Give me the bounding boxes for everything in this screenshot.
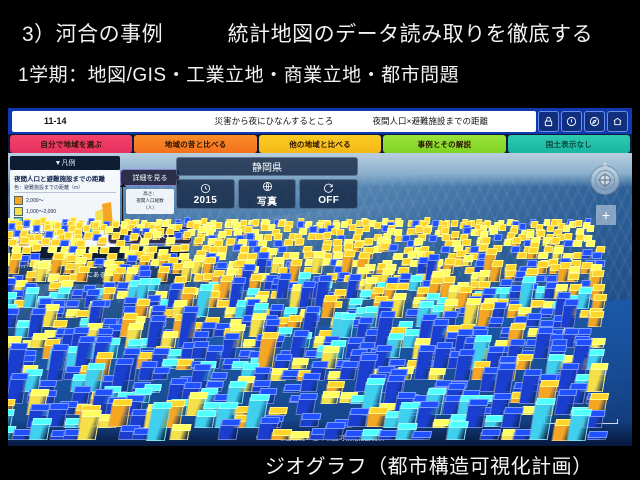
mesh-block bbox=[139, 241, 148, 246]
mesh-block-top bbox=[412, 431, 432, 438]
mesh-block-top bbox=[153, 367, 171, 374]
mesh-block-top bbox=[463, 255, 474, 262]
mesh-block-top bbox=[32, 225, 40, 232]
mesh-block-top bbox=[52, 253, 64, 260]
mesh-block-top bbox=[589, 311, 604, 318]
mesh-block-top bbox=[466, 298, 481, 305]
mesh-block bbox=[373, 225, 380, 227]
mesh-block bbox=[321, 394, 340, 404]
mesh-block bbox=[497, 227, 504, 230]
mesh-block-top bbox=[451, 220, 458, 227]
mesh-block-top bbox=[523, 276, 537, 283]
mesh-block-top bbox=[387, 375, 406, 382]
mesh-block-top bbox=[499, 356, 517, 363]
mesh-block-top bbox=[309, 226, 317, 233]
mesh-block-top bbox=[363, 225, 371, 232]
mesh-block-top bbox=[262, 332, 279, 339]
legend-subtitle: 色：避難施設までの距離（m） bbox=[14, 184, 116, 193]
mesh-block-top bbox=[180, 244, 190, 251]
mesh-block-top bbox=[433, 319, 449, 326]
mesh-block-top bbox=[218, 231, 227, 238]
mesh-block-top bbox=[148, 246, 158, 253]
legend-label: 2,000〜 bbox=[26, 197, 44, 204]
mesh-block-top bbox=[172, 424, 192, 431]
map-controls: 静岡県 2015 写真 bbox=[176, 157, 358, 209]
mesh-block-top bbox=[32, 418, 52, 425]
mesh-block-top bbox=[380, 311, 396, 318]
mesh-block bbox=[574, 223, 581, 227]
mesh-block-top bbox=[205, 257, 217, 264]
mesh-block-top bbox=[194, 364, 212, 371]
mesh-block-top bbox=[577, 328, 592, 335]
mesh-block-top bbox=[459, 286, 473, 293]
mesh-block-top bbox=[415, 338, 431, 345]
mesh-block-top bbox=[359, 317, 374, 324]
mesh-block-top bbox=[324, 295, 338, 302]
mesh-block-top bbox=[184, 382, 203, 389]
compass-icon bbox=[589, 116, 600, 127]
mesh-block-top bbox=[357, 267, 369, 274]
app-toolbar: 11-14 災害から夜にひなんするところ 夜間人口×避難施設までの距離 bbox=[8, 108, 632, 134]
mesh-block-top bbox=[525, 268, 538, 275]
mesh-block-top bbox=[538, 252, 548, 259]
mesh-block bbox=[461, 258, 472, 266]
mesh-block-top bbox=[419, 301, 434, 308]
mesh-block-top bbox=[174, 276, 187, 283]
map-viewport[interactable]: ▼凡例 夜間人口と避難施設までの距離 色：避難施設までの距離（m） 2,000〜… bbox=[8, 153, 632, 446]
basemap-value: 写真 bbox=[257, 193, 278, 208]
mesh-block bbox=[28, 421, 50, 440]
mesh-block bbox=[488, 320, 503, 328]
mesh-block-top bbox=[551, 237, 560, 244]
mesh-block-top bbox=[82, 410, 102, 417]
mesh-block-top bbox=[98, 328, 114, 335]
animation-value: OFF bbox=[318, 195, 339, 206]
mesh-block bbox=[193, 240, 202, 246]
mesh-block-top bbox=[8, 308, 20, 315]
mesh-block-top bbox=[568, 273, 580, 280]
legend-title: 夜間人口と避難施設までの距離 bbox=[14, 173, 116, 183]
mesh-block-top bbox=[305, 306, 320, 313]
mesh-block-top bbox=[49, 403, 69, 410]
mesh-block bbox=[562, 228, 569, 231]
mesh-block bbox=[493, 237, 501, 240]
zoom-in-button[interactable]: + bbox=[596, 205, 616, 225]
mesh-block-top bbox=[564, 328, 580, 335]
mesh-block-top bbox=[260, 417, 280, 424]
mesh-block-top bbox=[436, 342, 453, 349]
mesh-block-top bbox=[385, 283, 398, 290]
mesh-block-top bbox=[10, 253, 22, 260]
prefecture-selector[interactable]: 静岡県 bbox=[176, 157, 358, 176]
mesh-block-top bbox=[489, 317, 504, 324]
mesh-block-top bbox=[499, 363, 518, 370]
mesh-block-top bbox=[194, 331, 210, 338]
mesh-block-top bbox=[91, 300, 106, 307]
mesh-block-top bbox=[278, 327, 293, 334]
compass-north-label: 北 bbox=[603, 162, 608, 169]
mesh-block-top bbox=[87, 363, 105, 370]
mesh-block-top bbox=[318, 275, 332, 282]
mesh-block bbox=[179, 247, 189, 252]
mesh-block bbox=[280, 373, 298, 380]
tab-no-display[interactable]: 国土表示なし bbox=[508, 135, 630, 153]
mesh-block-top bbox=[429, 368, 447, 375]
mesh-block-top bbox=[254, 367, 272, 374]
mesh-block-top bbox=[327, 381, 345, 388]
mesh-block-top bbox=[397, 392, 416, 399]
mesh-block-top bbox=[30, 389, 49, 396]
mesh-block-top bbox=[32, 244, 42, 251]
mesh-block-top bbox=[219, 402, 239, 409]
mesh-block bbox=[450, 223, 457, 227]
mesh-block-top bbox=[211, 372, 229, 379]
mesh-block-top bbox=[423, 227, 431, 234]
mesh-block bbox=[298, 284, 314, 308]
mesh-block-top bbox=[491, 260, 503, 267]
mesh-block bbox=[209, 375, 226, 381]
mesh-block-top bbox=[564, 299, 579, 306]
info-icon bbox=[566, 116, 577, 127]
mesh-block-top bbox=[323, 346, 340, 353]
mesh-block bbox=[81, 228, 88, 231]
mesh-block-top bbox=[207, 345, 224, 352]
mesh-block bbox=[299, 416, 319, 427]
mesh-block bbox=[299, 376, 319, 392]
mesh-block-top bbox=[183, 287, 197, 294]
mesh-block-top bbox=[558, 389, 577, 396]
mesh-block-top bbox=[233, 277, 247, 284]
mesh-block bbox=[194, 413, 215, 428]
mesh-block-top bbox=[481, 429, 501, 436]
mesh-block bbox=[169, 427, 190, 440]
mesh-block-top bbox=[30, 404, 50, 411]
mesh-block-top bbox=[8, 278, 17, 285]
mesh-block-top bbox=[11, 373, 30, 380]
mesh-block-top bbox=[112, 232, 121, 239]
mesh-block-top bbox=[8, 245, 9, 252]
mesh-block bbox=[388, 247, 398, 252]
mesh-block bbox=[587, 314, 603, 327]
tab-case-study[interactable]: 事例とその解説 bbox=[383, 135, 505, 153]
mesh-block-top bbox=[126, 267, 138, 274]
mesh-block-top bbox=[342, 361, 360, 368]
mesh-block bbox=[239, 249, 248, 252]
mesh-block-top bbox=[254, 303, 269, 310]
mesh-block-top bbox=[253, 380, 271, 387]
slide-subtitle: 1学期：地図/GIS・工業立地・商業立地・都市問題 bbox=[18, 60, 459, 87]
mesh-block bbox=[290, 361, 307, 369]
mesh-block-top bbox=[66, 300, 80, 307]
mesh-block bbox=[120, 224, 127, 227]
mesh-block-top bbox=[78, 266, 90, 273]
home-button[interactable] bbox=[607, 111, 628, 132]
mesh-block-top bbox=[139, 270, 152, 277]
slide: 3）河合の事例 統計地図のデータ読み取りを徹底する 1学期：地図/GIS・工業立… bbox=[0, 0, 640, 480]
mesh-block bbox=[545, 228, 552, 231]
mesh-block-top bbox=[365, 277, 378, 284]
mesh-block-top bbox=[87, 289, 101, 296]
mesh-block-top bbox=[575, 339, 593, 346]
mesh-block-top bbox=[152, 231, 161, 238]
mesh-block-top bbox=[509, 339, 525, 346]
tab-compare-other[interactable]: 他の地域と比べる bbox=[259, 135, 381, 153]
mesh-block bbox=[516, 255, 526, 259]
mesh-block bbox=[217, 249, 226, 252]
mesh-block-top bbox=[302, 413, 322, 420]
mesh-block-top bbox=[593, 294, 607, 301]
mesh-block bbox=[591, 297, 605, 309]
mesh-block-top bbox=[153, 402, 173, 409]
mesh-block-top bbox=[458, 349, 476, 356]
mesh-block bbox=[50, 256, 63, 274]
mesh-block-top bbox=[590, 363, 608, 370]
mesh-block bbox=[283, 228, 290, 231]
mesh-block bbox=[276, 276, 291, 299]
mesh-block bbox=[585, 243, 594, 246]
mesh-block-top bbox=[488, 346, 505, 353]
mesh-block bbox=[322, 425, 344, 440]
mesh-block-top bbox=[372, 287, 385, 294]
mesh-block-top bbox=[392, 253, 402, 260]
mesh-block bbox=[217, 422, 239, 440]
mesh-block bbox=[410, 434, 430, 440]
mesh-block-top bbox=[158, 266, 170, 273]
year-control[interactable]: 2015 bbox=[176, 179, 235, 209]
mesh-block-top bbox=[559, 262, 571, 269]
mesh-block-top bbox=[482, 288, 496, 295]
mesh-block bbox=[586, 434, 606, 440]
mesh-block bbox=[479, 432, 499, 440]
mesh-block-top bbox=[8, 399, 15, 406]
mesh-block-top bbox=[563, 225, 571, 232]
mesh-block bbox=[97, 240, 106, 246]
mesh-block-top bbox=[449, 421, 469, 428]
mesh-block-top bbox=[348, 298, 362, 305]
mesh-block-top bbox=[250, 394, 270, 401]
mesh-block-top bbox=[130, 233, 139, 240]
mesh-block bbox=[76, 269, 89, 282]
mesh-block-top bbox=[162, 331, 178, 338]
mesh-block-top bbox=[344, 250, 356, 257]
mesh-block-top bbox=[45, 304, 60, 311]
mesh-block-top bbox=[269, 407, 288, 414]
mesh-block-top bbox=[325, 422, 345, 429]
mesh-block-top bbox=[52, 344, 70, 351]
mesh-block-top bbox=[382, 268, 394, 275]
info-button[interactable] bbox=[561, 111, 582, 132]
mesh-block-top bbox=[504, 407, 524, 414]
mesh-block-top bbox=[360, 354, 378, 361]
mesh-block-top bbox=[229, 381, 248, 388]
mesh-block-top bbox=[591, 270, 604, 277]
mesh-block-top bbox=[140, 238, 149, 245]
mesh-block-top bbox=[79, 336, 96, 343]
mesh-block-top bbox=[39, 380, 57, 387]
mesh-block bbox=[392, 256, 402, 259]
mesh-block bbox=[31, 247, 41, 252]
mesh-block-top bbox=[397, 423, 417, 430]
tab-choose-region[interactable]: 自分で地域を選ぶ bbox=[10, 135, 132, 153]
mesh-block-top bbox=[536, 398, 556, 405]
mesh-block-top bbox=[388, 333, 404, 340]
mesh-block-top bbox=[115, 358, 133, 365]
mesh-block-top bbox=[120, 228, 128, 235]
mesh-block bbox=[31, 228, 38, 230]
mesh-block-top bbox=[165, 228, 173, 235]
mesh-block-top bbox=[8, 336, 22, 343]
mesh-block-top bbox=[103, 287, 116, 294]
mesh-block-top bbox=[283, 384, 301, 391]
mesh-block-top bbox=[183, 231, 192, 238]
mesh-block-top bbox=[288, 315, 303, 322]
mesh-block-top bbox=[220, 419, 240, 426]
mesh-block-top bbox=[74, 327, 90, 334]
mesh-block-top bbox=[541, 380, 560, 387]
mesh-block bbox=[586, 228, 593, 231]
mesh-block-top bbox=[555, 284, 568, 291]
mesh-block-top bbox=[474, 335, 491, 342]
mesh-block-top bbox=[289, 431, 309, 438]
compass-button[interactable] bbox=[584, 111, 605, 132]
mesh-block bbox=[341, 253, 354, 274]
mesh-block-top bbox=[445, 258, 457, 265]
mesh-block-top bbox=[170, 283, 184, 290]
mesh-block-top bbox=[587, 431, 607, 438]
mesh-block bbox=[8, 256, 21, 274]
mesh-block-top bbox=[359, 252, 371, 259]
mesh-block bbox=[446, 424, 468, 440]
mesh-block-top bbox=[366, 378, 385, 385]
mesh-block-top bbox=[140, 255, 151, 262]
mesh-block bbox=[21, 250, 30, 253]
year-value: 2015 bbox=[194, 195, 217, 206]
mesh-block-top bbox=[295, 238, 304, 245]
mesh-block-top bbox=[98, 237, 107, 244]
mesh-block-top bbox=[302, 281, 316, 288]
mesh-block-top bbox=[494, 234, 503, 241]
mesh-block bbox=[500, 410, 522, 428]
mesh-block-top bbox=[243, 264, 256, 271]
mesh-block bbox=[129, 236, 138, 241]
mesh-block-top bbox=[579, 287, 593, 294]
height-annotation: 高さ： 夜間人口総数 （人） bbox=[126, 189, 174, 214]
mesh-block-top bbox=[510, 323, 526, 330]
mesh-block-top bbox=[363, 238, 372, 245]
theme-field[interactable]: 11-14 災害から夜にひなんするところ 夜間人口×避難施設までの距離 bbox=[12, 111, 536, 132]
mesh-block-top bbox=[313, 251, 325, 258]
mesh-block-top bbox=[252, 313, 267, 320]
mesh-block bbox=[151, 370, 169, 380]
mesh-block-top bbox=[128, 323, 144, 330]
mesh-block bbox=[181, 234, 190, 240]
mesh-block-top bbox=[550, 345, 567, 352]
slide-caption: ジオグラフ（都市構造可視化計画） bbox=[265, 450, 593, 479]
mesh-block-top bbox=[393, 293, 407, 300]
mesh-block-top bbox=[299, 393, 318, 400]
mesh-block-top bbox=[265, 319, 280, 326]
refresh-icon bbox=[323, 183, 334, 194]
mesh-block-top bbox=[571, 409, 591, 416]
mesh-block-top bbox=[96, 336, 113, 343]
mesh-block-top bbox=[400, 402, 420, 409]
mesh-block-top bbox=[349, 274, 362, 281]
mesh-block-top bbox=[189, 392, 208, 399]
detail-button[interactable]: 詳細を見る bbox=[120, 169, 180, 186]
legend-label: 1,000〜2,000 bbox=[26, 208, 56, 215]
mesh-block-top bbox=[443, 311, 458, 318]
mesh-block-top bbox=[139, 278, 152, 285]
mesh-block-top bbox=[539, 320, 554, 327]
basemap-control[interactable]: 写真 bbox=[238, 179, 297, 209]
lock-button[interactable] bbox=[538, 111, 559, 132]
mesh-block bbox=[527, 250, 538, 259]
mesh-block bbox=[56, 290, 69, 299]
mesh-block-top bbox=[572, 240, 581, 247]
mesh-block-top bbox=[76, 257, 88, 264]
mesh-block-top bbox=[290, 259, 302, 266]
mesh-block bbox=[294, 241, 303, 246]
mesh-block bbox=[147, 249, 157, 252]
mesh-block-top bbox=[38, 262, 50, 269]
mesh-block-top bbox=[457, 329, 473, 336]
lock-icon bbox=[543, 116, 554, 127]
mesh-block-top bbox=[230, 324, 246, 331]
mesh-block bbox=[99, 250, 108, 253]
globe-icon bbox=[262, 181, 273, 192]
mesh-block-top bbox=[200, 284, 214, 291]
mesh-block-top bbox=[275, 354, 292, 361]
mesh-block-top bbox=[410, 275, 423, 282]
mesh-block-top bbox=[294, 330, 310, 337]
mesh-block-top bbox=[419, 401, 439, 408]
mesh-block-top bbox=[468, 399, 488, 406]
mesh-block bbox=[52, 323, 67, 328]
mesh-block-top bbox=[480, 303, 495, 310]
mesh-block bbox=[296, 224, 303, 227]
mesh-block-top bbox=[302, 373, 320, 380]
mesh-block-top bbox=[73, 386, 92, 393]
mesh-block bbox=[340, 224, 347, 227]
home-icon bbox=[612, 116, 623, 127]
compass-widget[interactable]: 北 bbox=[586, 161, 624, 199]
mesh-block bbox=[563, 243, 572, 246]
mesh-block-top bbox=[279, 273, 292, 280]
animation-control[interactable]: OFF bbox=[299, 179, 358, 209]
mesh-block bbox=[65, 303, 79, 308]
legend-swatch bbox=[14, 207, 23, 216]
mesh-block-top bbox=[10, 343, 28, 350]
mesh-block bbox=[567, 276, 579, 282]
mesh-block-top bbox=[380, 301, 395, 308]
mesh-block-top bbox=[127, 255, 138, 262]
mesh-block-top bbox=[166, 237, 175, 244]
mesh-block bbox=[428, 238, 436, 241]
mesh-block-top bbox=[312, 361, 330, 368]
mesh-block bbox=[11, 249, 20, 252]
legend-header[interactable]: ▼凡例 bbox=[10, 156, 120, 170]
mesh-block-top bbox=[586, 240, 595, 247]
mesh-block-top bbox=[429, 235, 438, 242]
mesh-block-top bbox=[323, 232, 332, 239]
mesh-block-top bbox=[322, 244, 332, 251]
mesh-block-top bbox=[341, 313, 356, 320]
mesh-block bbox=[276, 223, 283, 227]
mesh-block-top bbox=[591, 252, 601, 259]
tab-compare-past[interactable]: 地域の昔と比べる bbox=[134, 135, 256, 153]
mesh-block bbox=[164, 231, 172, 235]
mesh-block bbox=[590, 255, 600, 259]
